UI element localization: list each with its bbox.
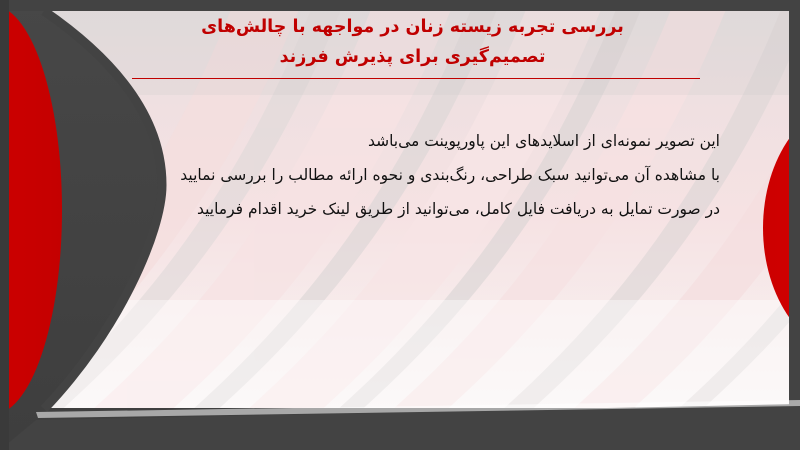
slide-body: این تصویر نمونه‌ای از اسلایدهای این پاور… [95, 124, 720, 226]
body-line-3: در صورت تمایل به دریافت فایل کامل، می‌تو… [95, 192, 720, 226]
title-line-2: تصمیم‌گیری برای پذیرش فرزند [120, 42, 705, 72]
body-line-1: این تصویر نمونه‌ای از اسلایدهای این پاور… [95, 124, 720, 158]
frame-right [789, 0, 800, 450]
slide-title: بررسی تجربه زیسته زنان در مواجهه با چالش… [120, 12, 705, 72]
body-line-2: با مشاهده آن می‌توانید سبک طراحی، رنگ‌بن… [95, 158, 720, 192]
slide-canvas: بررسی تجربه زیسته زنان در مواجهه با چالش… [0, 0, 800, 450]
title-line-1: بررسی تجربه زیسته زنان در مواجهه با چالش… [120, 12, 705, 42]
frame-left [0, 0, 9, 450]
frame-top [0, 0, 800, 11]
title-underline-rule [132, 78, 700, 79]
